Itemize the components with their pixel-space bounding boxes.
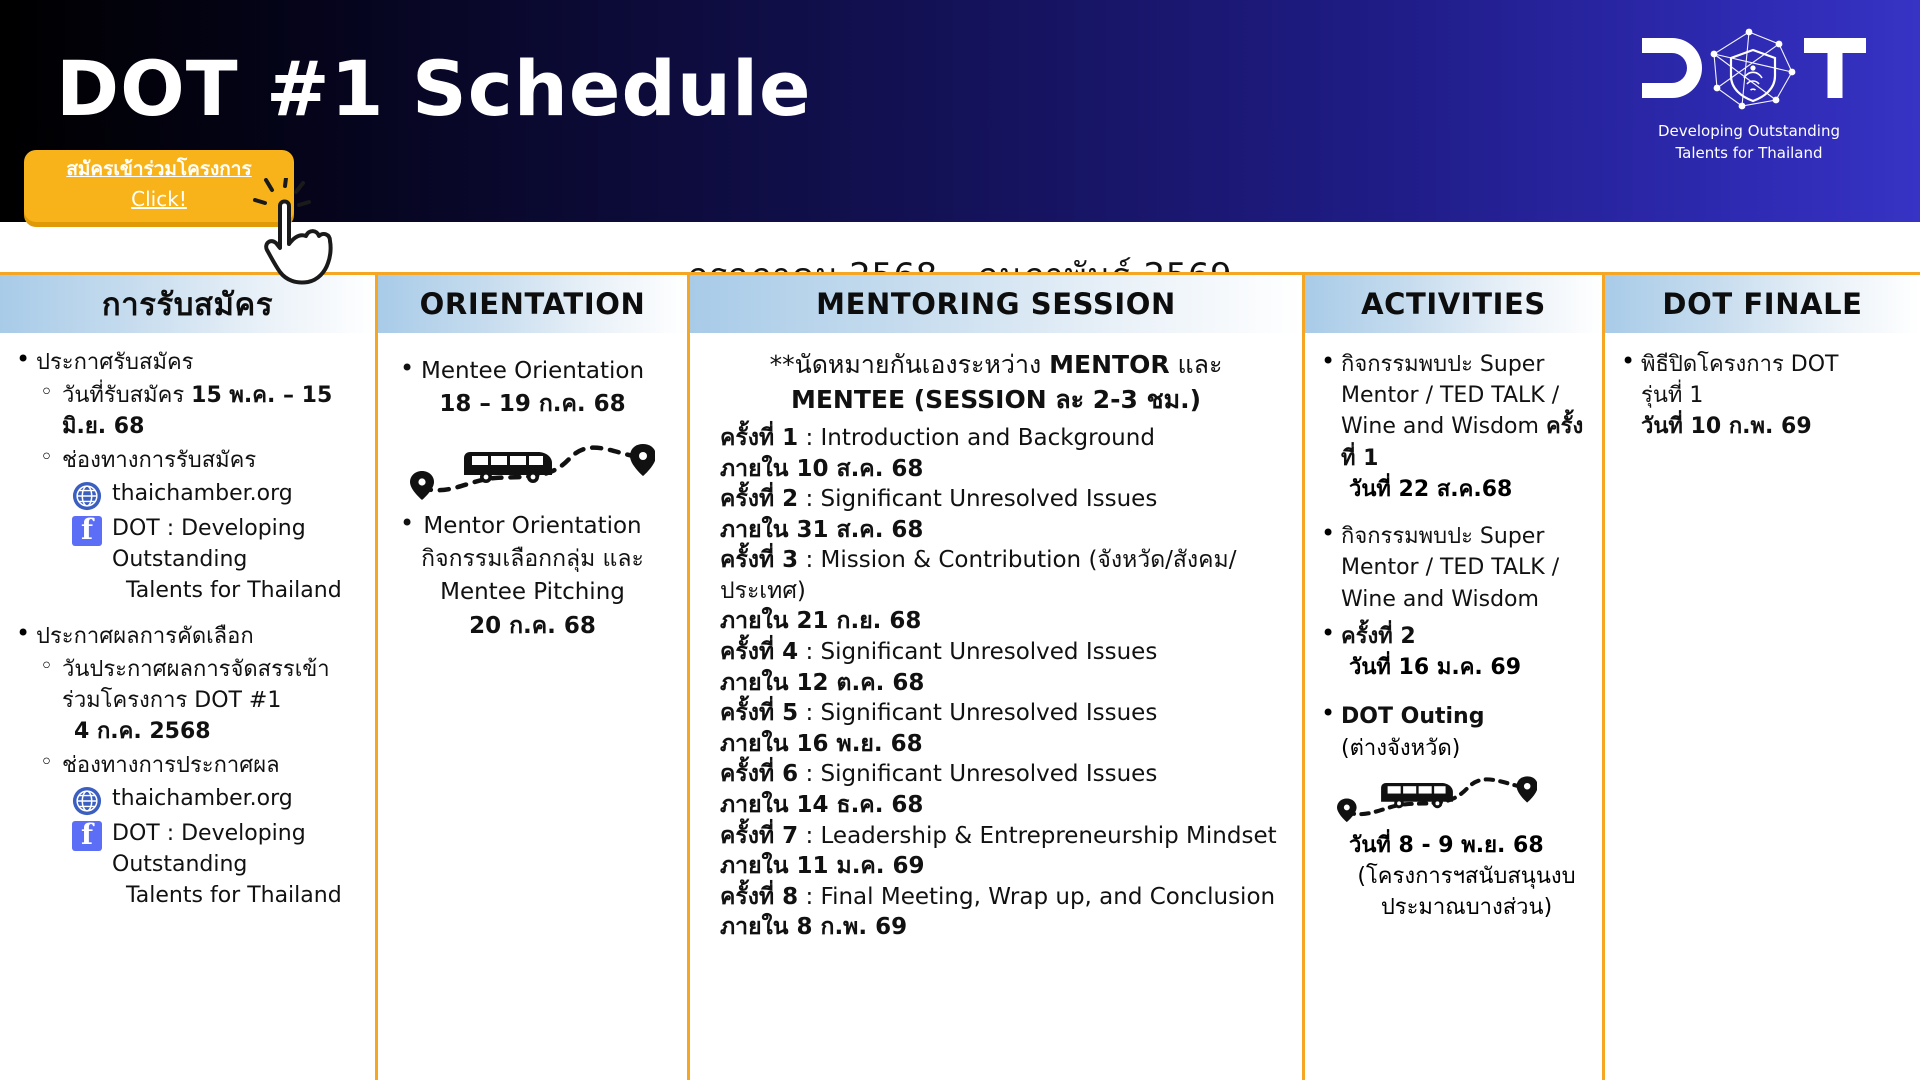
activity-1-text: กิจกรรมพบปะ Super Mentor / TED TALK / Wi… [1341,349,1592,474]
recruitment-announce-heading: ประกาศรับสมัคร [36,347,365,378]
mentor-orientation-date: 20 ก.ค. 68 [469,613,596,639]
session-due: ภายใน 11 ม.ค. 69 [700,851,1292,882]
column-header-activities: ACTIVITIES [1305,275,1602,333]
activity-4-date: วันที่ 8 - 9 พ.ย. 68 [1341,830,1592,861]
session-row: ครั้งที่ 8 : Final Meeting, Wrap up, and… [700,882,1292,913]
globe-icon [72,481,102,511]
session-due: ภายใน 10 ส.ค. 68 [700,454,1292,485]
session-due: ภายใน 12 ต.ค. 68 [700,668,1292,699]
list-item: ครั้งที่ 2 วันที่ 16 ม.ค. 69 [1315,621,1592,683]
session-row: ครั้งที่ 1 : Introduction and Background [700,423,1292,454]
recruitment-channels-label: ช่องทางการรับสมัคร [62,445,365,476]
column-activities: ACTIVITIES กิจกรรมพบปะ Super Mentor / TE… [1305,272,1605,1080]
activity-1-date: วันที่ 22 ส.ค.68 [1341,474,1592,505]
orientation-item-mentee: Mentee Orientation 18 – 19 ก.ค. 68 [388,355,677,422]
session-due: ภายใน 21 ก.ย. 68 [700,606,1292,637]
column-finale: DOT FINALE พิธีปิดโครงการ DOT รุ่นที่ 1 … [1605,272,1920,1080]
activity-4-sub: (ต่างจังหวัด) [1341,733,1592,764]
list-item: วันที่รับสมัคร 15 พ.ค. – 15 มิ.ย. 68 [36,380,365,442]
bus-icon [1381,783,1453,808]
result-announce-heading: ประกาศผลการคัดเลือก [36,621,365,652]
mentoring-note: **นัดหมายกันเองระหว่าง MENTOR และ MENTEE… [700,343,1292,423]
session-due: ภายใน 8 ก.พ. 69 [700,912,1292,943]
session-row: ครั้งที่ 5 : Significant Unresolved Issu… [700,698,1292,729]
schedule-columns: การรับสมัคร ประกาศรับสมัคร วันที่รับสมัค… [0,272,1920,1080]
session-due: ภายใน 14 ธ.ค. 68 [700,790,1292,821]
session-row: ครั้งที่ 7 : Leadership & Entrepreneursh… [700,821,1292,852]
column-recruitment: การรับสมัคร ประกาศรับสมัคร วันที่รับสมัค… [0,272,375,1080]
schedule-poster: DOT #1 Schedule [0,0,1920,1080]
mentor-orientation-sub1: กิจกรรมเลือกกลุ่ม และ [421,546,644,572]
session-due: ภายใน 16 พ.ย. 68 [700,729,1292,760]
channel-website[interactable]: thaichamber.org [72,783,365,816]
mentor-orientation-label: Mentor Orientation [423,513,641,539]
activity-4-note-line1: (โครงการฯสนับสนุนงบ [1341,861,1592,892]
website-label: thaichamber.org [112,783,293,814]
globe-icon [72,786,102,816]
result-channels-label: ช่องทางการประกาศผล [62,750,365,781]
mentor-orientation-sub2: Mentee Pitching [440,579,625,605]
logo-tagline-line2: Talents for Thailand [1624,144,1874,164]
session-row: ครั้งที่ 6 : Significant Unresolved Issu… [700,759,1292,790]
pointing-hand-cursor-icon [252,178,342,298]
logo-tagline-line1: Developing Outstanding [1624,122,1874,142]
column-header-finale: DOT FINALE [1605,275,1920,333]
facebook-label: DOT : Developing Outstanding Talents for… [112,818,365,912]
finale-line2: รุ่นที่ 1 [1641,380,1910,411]
bus-route-icon [410,436,655,500]
channel-website[interactable]: thaichamber.org [72,478,365,511]
list-item: ประกาศรับสมัคร วันที่รับสมัคร 15 พ.ค. – … [10,347,365,607]
session-due: ภายใน 31 ส.ค. 68 [700,515,1292,546]
session-row: ครั้งที่ 2 : Significant Unresolved Issu… [700,484,1292,515]
activity-3-date: วันที่ 16 ม.ค. 69 [1341,652,1592,683]
dot-logo-mark [1624,24,1874,116]
bus-route-icon [1337,768,1537,824]
facebook-icon [72,516,102,546]
list-item: วันประกาศผลการจัดสรรเข้าร่วมโครงการ DOT … [36,654,365,748]
channel-facebook[interactable]: DOT : Developing Outstanding Talents for… [72,818,365,912]
list-item: ช่องทางการรับสมัคร [36,445,365,607]
session-row: ครั้งที่ 4 : Significant Unresolved Issu… [700,637,1292,668]
column-orientation: ORIENTATION Mentee Orientation 18 – 19 ก… [375,272,690,1080]
recruitment-period: วันที่รับสมัคร 15 พ.ค. – 15 มิ.ย. 68 [62,380,365,442]
activity-4-label: DOT Outing [1341,704,1484,729]
finale-date: วันที่ 10 ก.พ. 69 [1641,414,1812,439]
session-row: ครั้งที่ 3 : Mission & Contribution (จัง… [700,545,1292,606]
channel-facebook[interactable]: DOT : Developing Outstanding Talents for… [72,513,365,607]
finale-line1: พิธีปิดโครงการ DOT [1641,349,1910,380]
activity-2-text: กิจกรรมพบปะ Super Mentor / TED TALK / Wi… [1341,521,1592,615]
list-item: กิจกรรมพบปะ Super Mentor / TED TALK / Wi… [1315,349,1592,505]
list-item: พิธีปิดโครงการ DOT รุ่นที่ 1 วันที่ 10 ก… [1615,349,1910,443]
orientation-item-mentor: Mentor Orientation กิจกรรมเลือกกลุ่ม และ… [388,510,677,643]
page-title: DOT #1 Schedule [56,44,812,133]
facebook-label: DOT : Developing Outstanding Talents for… [112,513,365,607]
activity-3-label: ครั้งที่ 2 [1341,624,1416,649]
activity-4-note-line2: ประมาณบางส่วน) [1341,892,1592,923]
column-header-mentoring: MENTORING SESSION [690,275,1302,333]
dot-logo: Developing Outstanding Talents for Thail… [1624,24,1874,163]
website-label: thaichamber.org [112,478,293,509]
column-mentoring: MENTORING SESSION **นัดหมายกันเองระหว่าง… [690,272,1305,1080]
facebook-icon [72,821,102,851]
result-date-value: 4 ก.ค. 2568 [74,719,211,744]
mentee-orientation-label: Mentee Orientation [421,358,644,384]
list-item: ช่องทางการประกาศผล [36,750,365,912]
result-date-label: วันประกาศผลการจัดสรรเข้าร่วมโครงการ DOT … [62,654,365,716]
mentee-orientation-date: 18 – 19 ก.ค. 68 [439,391,625,417]
list-item: DOT Outing (ต่างจังหวัด) [1315,701,1592,923]
bus-icon [464,452,552,483]
list-item: ประกาศผลการคัดเลือก วันประกาศผลการจัดสรร… [10,621,365,912]
column-header-orientation: ORIENTATION [378,275,687,333]
list-item: กิจกรรมพบปะ Super Mentor / TED TALK / Wi… [1315,521,1592,615]
